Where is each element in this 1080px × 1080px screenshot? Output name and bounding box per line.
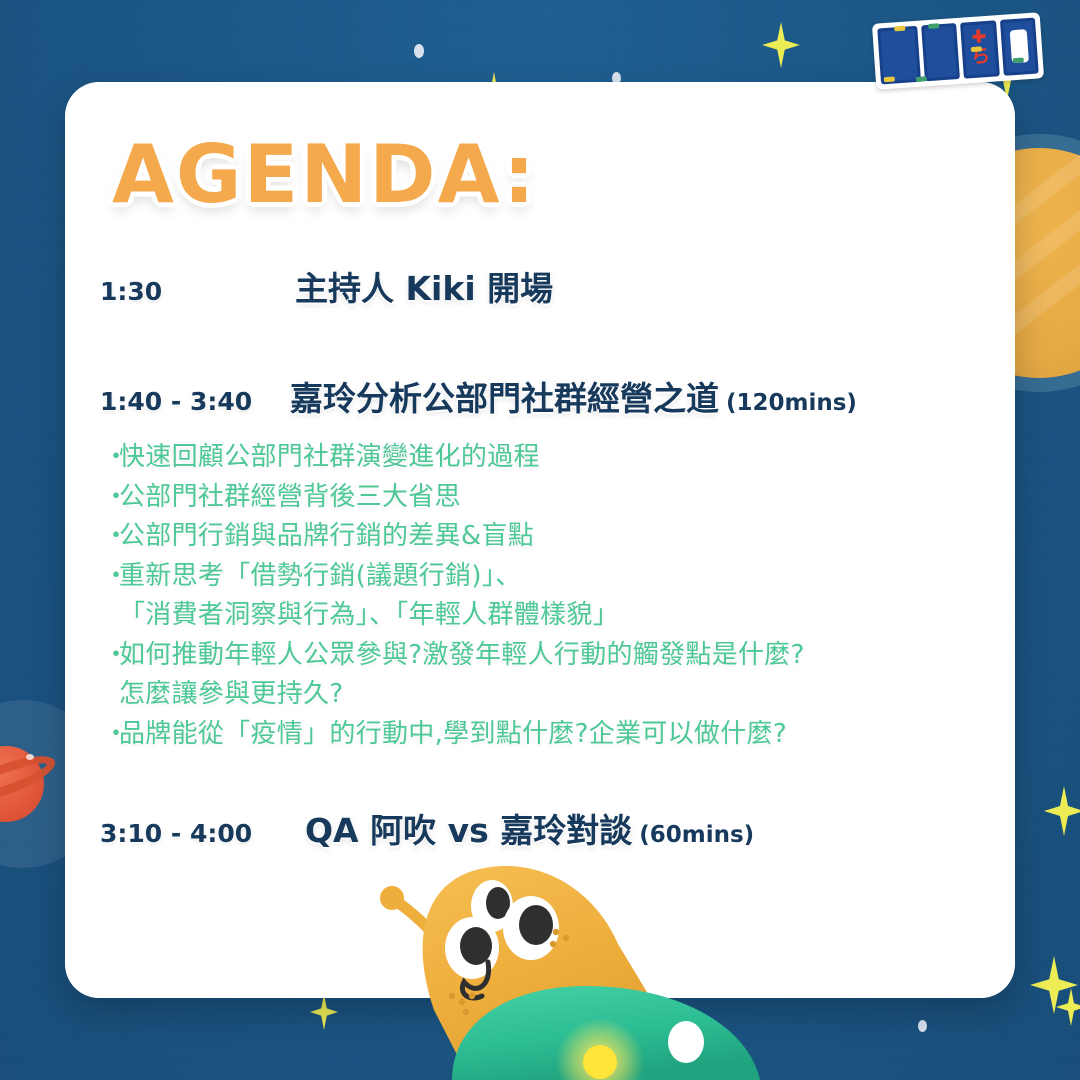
agenda-bullet-list: ・快速回顧公部門社群演變進化的過程 ・公部門社群經營背後三大省思 ・公部門行銷與… — [103, 438, 1000, 754]
agenda-row: 1:40 - 3:40 嘉玲分析公部門社群經營之道 (120mins) — [100, 372, 1000, 420]
agenda-poster: ち AGENDA: 1:30 主持人 Kiki 開場 1:40 - 3:40 嘉… — [0, 0, 1080, 1080]
mascot-partner-dot — [583, 1045, 617, 1079]
bullet-mark-icon: ・ — [103, 517, 119, 557]
bullet-mark-icon: ・ — [103, 715, 119, 755]
sparkle-icon — [1056, 988, 1080, 1026]
brand-logo[interactable]: ち — [872, 12, 1044, 90]
logo-pin — [916, 76, 927, 82]
list-item: ・快速回顧公部門社群演變進化的過程 — [103, 438, 1000, 478]
logo-cross-icon — [972, 29, 986, 43]
agenda-list: 1:30 主持人 Kiki 開場 1:40 - 3:40 嘉玲分析公部門社群經營… — [100, 262, 1000, 852]
bullet-mark-icon: ・ — [103, 557, 119, 597]
page-title: AGENDA: — [112, 128, 537, 221]
star-dot-icon — [414, 44, 424, 58]
bullet-mark-icon: ・ — [103, 636, 119, 676]
list-item-text: 品牌能從「疫情」的行動中,學到點什麼?企業可以做什麼? — [119, 715, 1000, 755]
sparkle-icon — [310, 994, 338, 1030]
list-item: ・品牌能從「疫情」的行動中,學到點什麼?企業可以做什麼? — [103, 715, 1000, 755]
sparkle-icon — [1044, 786, 1080, 836]
agenda-row-time: 1:30 — [100, 277, 295, 306]
logo-block-2 — [921, 23, 960, 81]
logo-block-4 — [1000, 18, 1039, 76]
list-item-text: 如何推動年輕人公眾參與?激發年輕人行動的觸發點是什麼? — [119, 636, 1000, 676]
logo-pin — [1013, 57, 1024, 63]
agenda-row-topic: 主持人 Kiki 開場 — [295, 262, 553, 310]
mascot-partner-eye — [668, 1021, 704, 1063]
logo-pin — [894, 26, 905, 32]
agenda-row-duration: (120mins) — [726, 390, 857, 416]
agenda-row-duration: (60mins) — [639, 822, 754, 848]
logo-block-1 — [877, 26, 921, 85]
logo-pin — [971, 46, 982, 52]
list-item-text: 快速回顧公部門社群演變進化的過程 — [119, 438, 1000, 478]
list-item-text: 公部門社群經營背後三大省思 — [119, 478, 1000, 518]
bullet-mark-icon: ・ — [103, 478, 119, 518]
list-item: ・怎麼讓參與更持久? — [103, 675, 1000, 715]
bullet-mark-icon: ・ — [103, 438, 119, 478]
list-item: ・如何推動年輕人公眾參與?激發年輕人行動的觸發點是什麼? — [103, 636, 1000, 676]
sparkle-icon — [762, 22, 800, 68]
list-item-text: 重新思考「借勢行銷(議題行銷)」、 — [119, 557, 1000, 597]
mascot-partner-glow — [556, 1018, 644, 1080]
mascot-partner-body — [452, 986, 760, 1080]
star-dot-icon — [918, 1020, 927, 1032]
list-item: ・「消費者洞察與行為」、「年輕人群體樣貌」 — [103, 596, 1000, 636]
logo-pin — [928, 23, 939, 29]
list-item-text: 怎麼讓參與更持久? — [119, 675, 1000, 715]
agenda-row: 3:10 - 4:00 QA 阿吹 vs 嘉玲對談 (60mins) — [100, 804, 1000, 852]
agenda-row-topic: 嘉玲分析公部門社群經營之道 — [290, 372, 719, 420]
red-ringed-planet-icon — [0, 738, 52, 830]
list-item-text: 公部門行銷與品牌行銷的差異&盲點 — [119, 517, 1000, 557]
list-item: ・重新思考「借勢行銷(議題行銷)」、 — [103, 557, 1000, 597]
agenda-row-topic: QA 阿吹 vs 嘉玲對談 — [305, 804, 632, 852]
list-item-text: 「消費者洞察與行為」、「年輕人群體樣貌」 — [119, 596, 1000, 636]
logo-pin — [884, 76, 895, 82]
agenda-row-time: 3:10 - 4:00 — [100, 819, 305, 848]
list-item: ・公部門社群經營背後三大省思 — [103, 478, 1000, 518]
agenda-row-time: 1:40 - 3:40 — [100, 387, 290, 416]
agenda-row: 1:30 主持人 Kiki 開場 — [100, 262, 1000, 310]
list-item: ・公部門行銷與品牌行銷的差異&盲點 — [103, 517, 1000, 557]
